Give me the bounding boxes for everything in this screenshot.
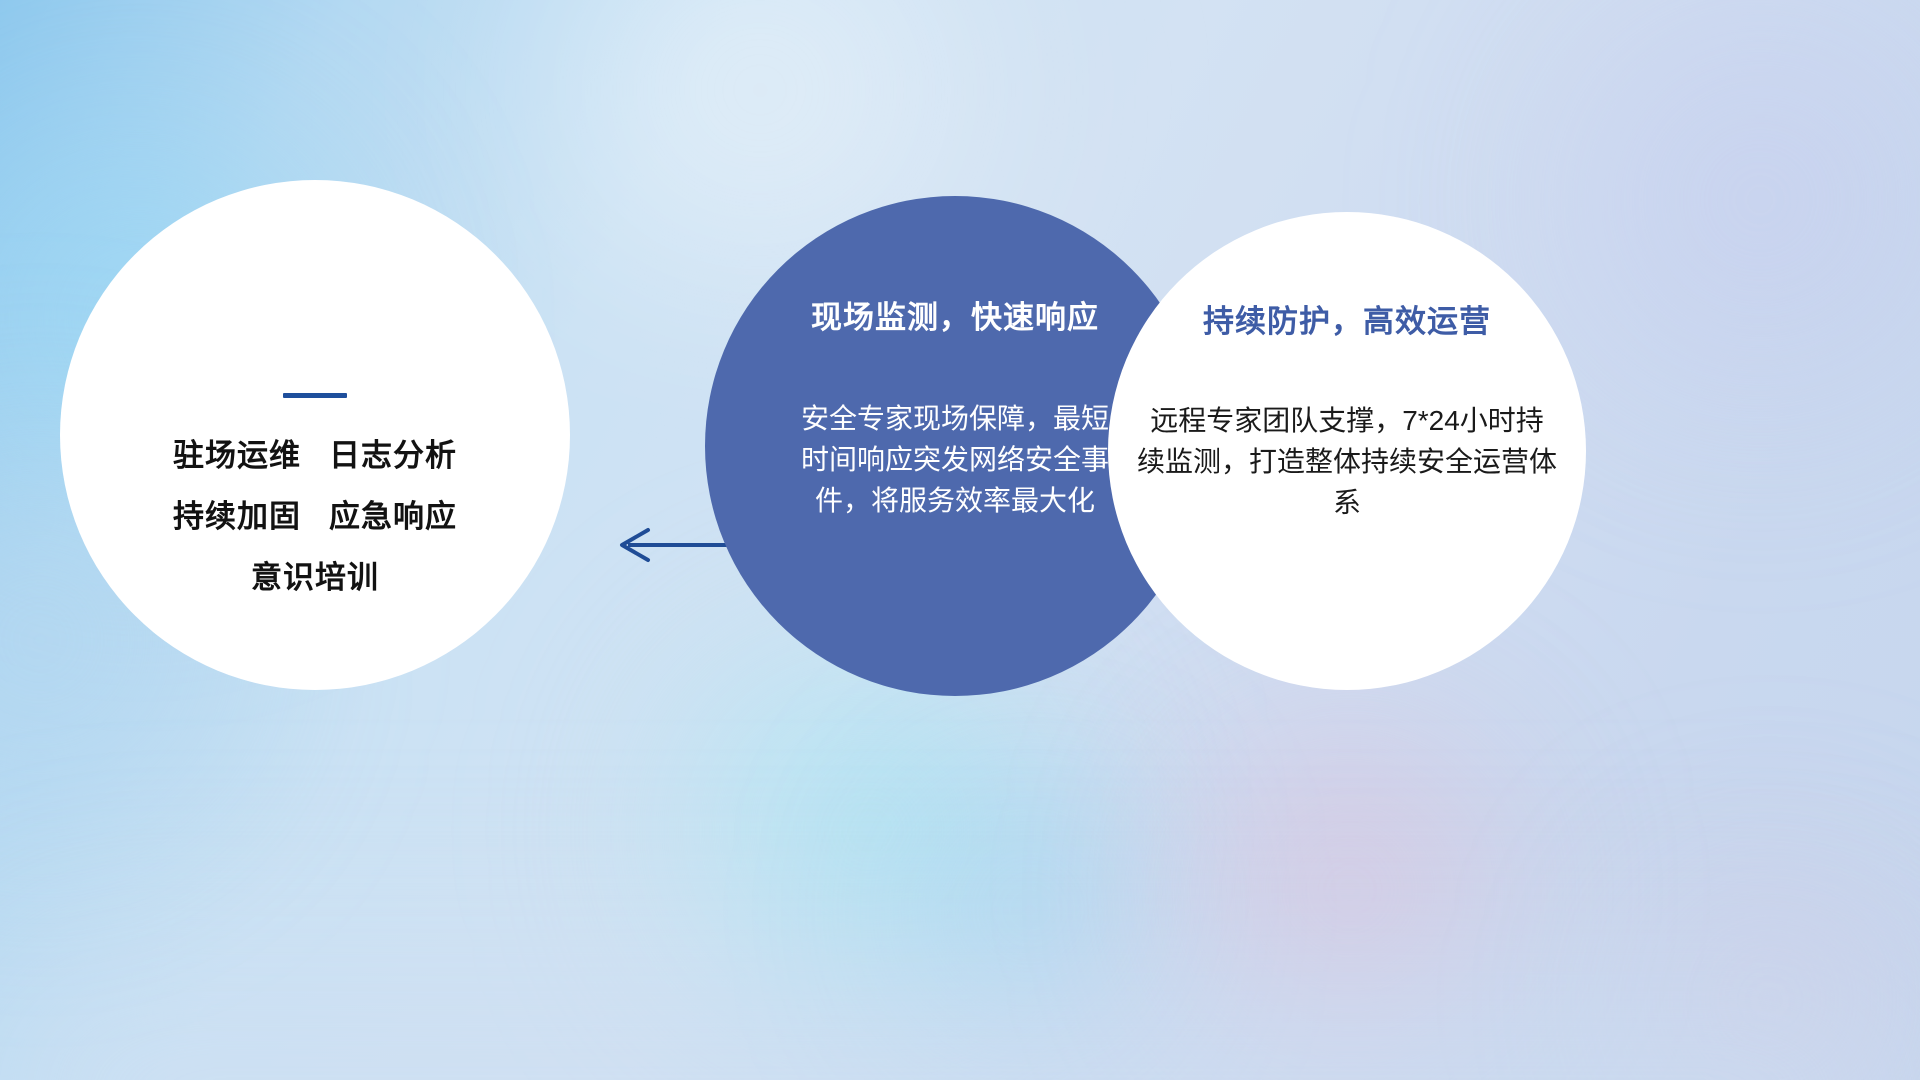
skill-item: 应急响应 — [329, 499, 457, 534]
capability-circle-left[interactable]: 驻场运维日志分析 持续加固应急响应 意识培训 — [60, 180, 570, 690]
skill-row: 意识培训 — [173, 562, 457, 593]
circle-middle-body: 安全专家现场保障，最短时间响应突发网络安全事件，将服务效率最大化 — [796, 399, 1114, 522]
skill-list: 驻场运维日志分析 持续加固应急响应 意识培训 — [173, 440, 457, 623]
skill-item: 日志分析 — [329, 438, 457, 473]
background-bottom-wash — [0, 880, 1920, 1080]
skill-row: 驻场运维日志分析 — [173, 440, 457, 471]
capability-circle-right[interactable]: 持续防护，高效运营 远程专家团队支撑，7*24小时持续监测，打造整体持续安全运营… — [1108, 212, 1586, 690]
divider-line — [283, 393, 347, 398]
skill-item: 持续加固 — [173, 499, 301, 534]
skill-item: 驻场运维 — [173, 438, 301, 473]
circle-middle-title: 现场监测，快速响应 — [811, 292, 1099, 337]
circle-right-body: 远程专家团队支撑，7*24小时持续监测，打造整体持续安全运营体系 — [1137, 401, 1557, 524]
skill-row: 持续加固应急响应 — [173, 501, 457, 532]
skill-item: 意识培训 — [251, 560, 379, 595]
circle-right-title: 持续防护，高效运营 — [1203, 296, 1491, 341]
